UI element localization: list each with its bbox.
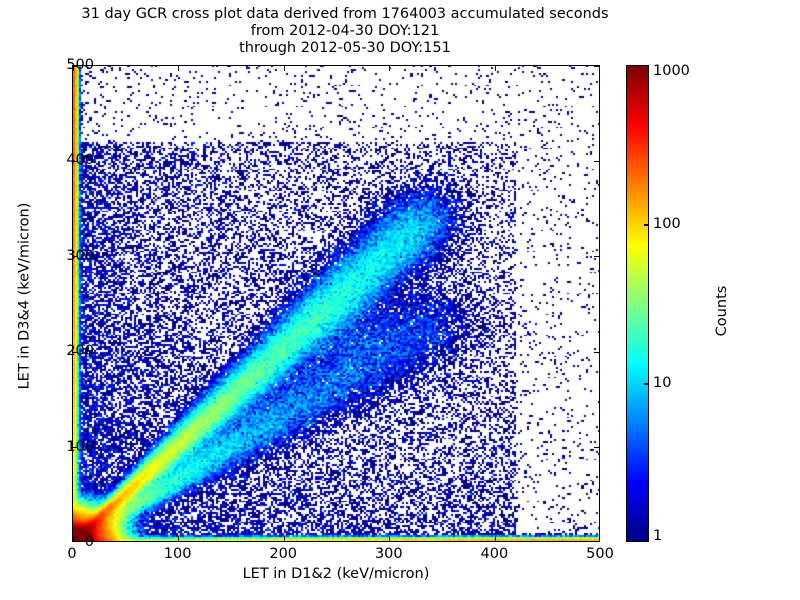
y-tick-label: 0	[85, 534, 94, 550]
figure-canvas: 31 day GCR cross plot data derived from …	[0, 0, 800, 600]
x-tick-mark	[284, 66, 285, 71]
x-tick-mark	[178, 66, 179, 71]
y-tick-mark	[594, 256, 599, 257]
x-tick-label: 100	[164, 546, 192, 562]
colorbar	[626, 65, 649, 542]
plot-title-line-2: from 2012-04-30 DOY:121	[0, 23, 690, 40]
x-tick-label: 200	[269, 546, 297, 562]
y-tick-mark	[594, 352, 599, 353]
x-tick-mark	[495, 66, 496, 71]
x-tick-label: 400	[481, 546, 509, 562]
x-tick-label: 300	[375, 546, 403, 562]
plot-axes	[72, 65, 600, 542]
plot-title-line-3: through 2012-05-30 DOY:151	[0, 40, 690, 57]
x-tick-mark	[178, 536, 179, 541]
y-tick-mark	[594, 65, 599, 66]
y-axis-label: LET in D3&4 (keV/micron)	[17, 58, 33, 535]
x-tick-mark	[389, 536, 390, 541]
scatter-density-plot	[73, 66, 600, 542]
x-tick-mark	[284, 536, 285, 541]
x-tick-label: 0	[67, 546, 76, 562]
y-tick-label: 100	[66, 439, 94, 455]
x-tick-mark	[389, 66, 390, 71]
x-tick-mark	[72, 536, 73, 541]
plot-title-line-1: 31 day GCR cross plot data derived from …	[0, 6, 690, 23]
colorbar-tick-label: 1	[653, 528, 662, 544]
y-tick-label: 400	[66, 152, 94, 168]
colorbar-tick-mark	[644, 224, 648, 225]
plot-title: 31 day GCR cross plot data derived from …	[0, 6, 690, 57]
y-tick-mark	[594, 447, 599, 448]
x-tick-label: 500	[586, 546, 614, 562]
x-axis-label: LET in D1&2 (keV/micron)	[72, 566, 600, 582]
colorbar-gradient	[627, 66, 649, 542]
y-tick-label: 200	[66, 343, 94, 359]
x-tick-mark	[495, 536, 496, 541]
colorbar-title: Counts	[714, 236, 730, 386]
y-tick-label: 300	[66, 248, 94, 264]
colorbar-tick-label: 10	[653, 375, 671, 391]
colorbar-tick-mark	[644, 383, 648, 384]
y-tick-label: 500	[66, 57, 94, 73]
colorbar-tick-label: 100	[653, 216, 681, 232]
colorbar-tick-label: 1000	[653, 63, 690, 79]
y-tick-mark	[594, 161, 599, 162]
